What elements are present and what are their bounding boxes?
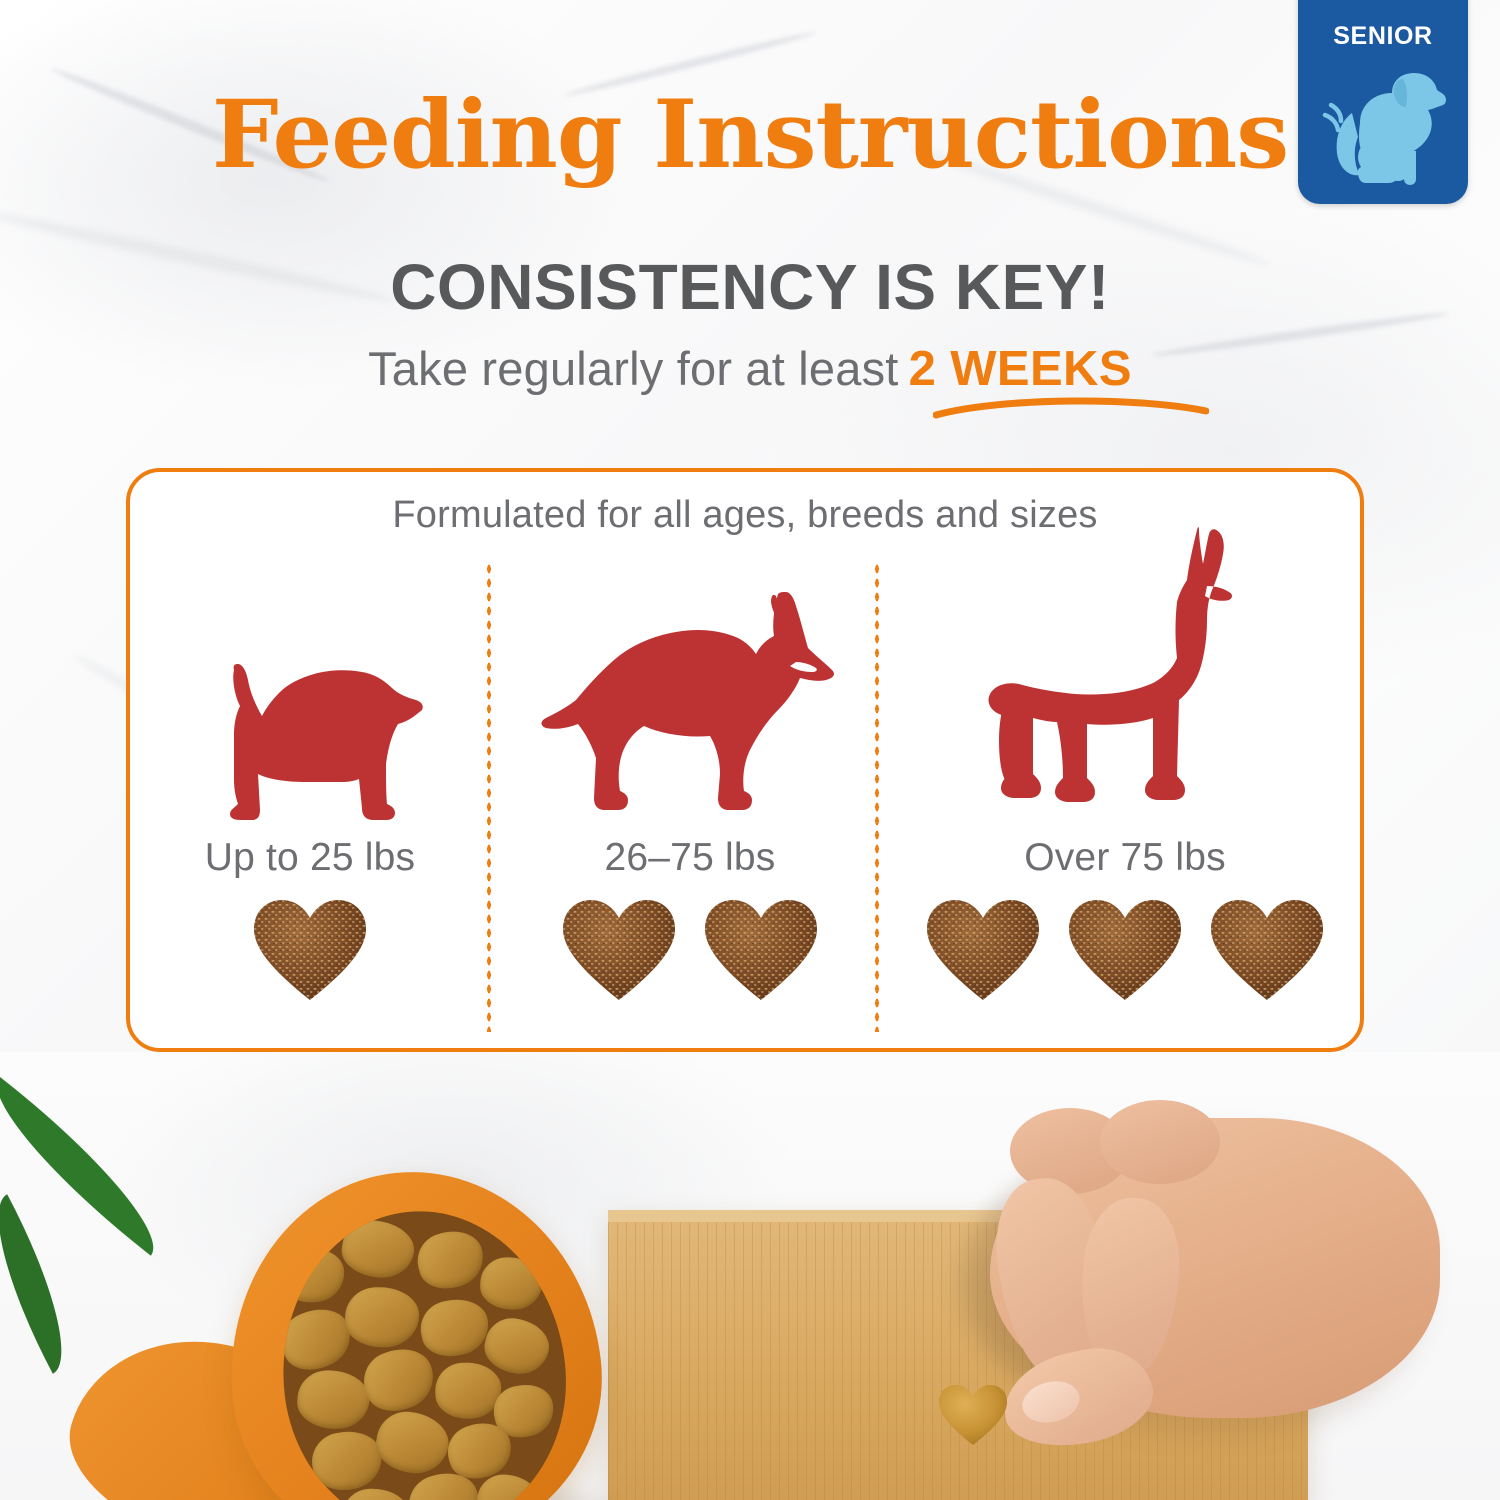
tagline-underline-swash	[933, 393, 1209, 424]
size-columns: Up to 25 lbs	[130, 554, 1360, 1052]
tagline-accent: 2 WEEKS	[909, 342, 1132, 396]
kibble-heart-icon	[1065, 896, 1185, 1004]
kibble-heart-icon	[701, 896, 821, 1004]
size-column-medium: 26–75 lbs	[490, 554, 890, 1052]
kibble-group-medium	[559, 896, 821, 1004]
column-divider-1	[486, 562, 492, 1032]
size-label-medium: 26–75 lbs	[605, 836, 776, 880]
senior-badge-label: SENIOR	[1333, 22, 1432, 51]
held-kibble-piece	[936, 1382, 1010, 1448]
tagline: Take regularly for at least2 WEEKS	[0, 345, 1500, 394]
kibble-heart-icon	[923, 896, 1043, 1004]
kibble-heart-icon	[1207, 896, 1327, 1004]
size-column-small: Up to 25 lbs	[130, 554, 490, 1052]
size-column-large: Over 75 lbs	[890, 554, 1360, 1052]
feeding-chart-card: Formulated for all ages, breeds and size…	[126, 468, 1364, 1052]
page-title: Feeding Instructions	[0, 88, 1500, 182]
page-subtitle: CONSISTENCY IS KEY!	[0, 255, 1500, 319]
kibble-heart-icon	[250, 896, 370, 1004]
knuckle	[1100, 1100, 1220, 1184]
tagline-prefix: Take regularly for at least	[368, 342, 898, 395]
kibble-group-small	[250, 896, 370, 1004]
size-label-small: Up to 25 lbs	[205, 836, 416, 880]
small-dog-icon	[196, 554, 424, 824]
kibble-heart-icon	[559, 896, 679, 1004]
large-dog-icon	[975, 554, 1275, 824]
kibble-group-large	[923, 896, 1327, 1004]
column-divider-2	[874, 562, 880, 1032]
product-photo	[0, 1052, 1500, 1500]
bowl-interior	[267, 1197, 581, 1500]
feeding-instructions-infographic: SENIOR	[0, 0, 1500, 1500]
medium-dog-icon	[540, 554, 840, 824]
size-label-large: Over 75 lbs	[1024, 836, 1226, 880]
